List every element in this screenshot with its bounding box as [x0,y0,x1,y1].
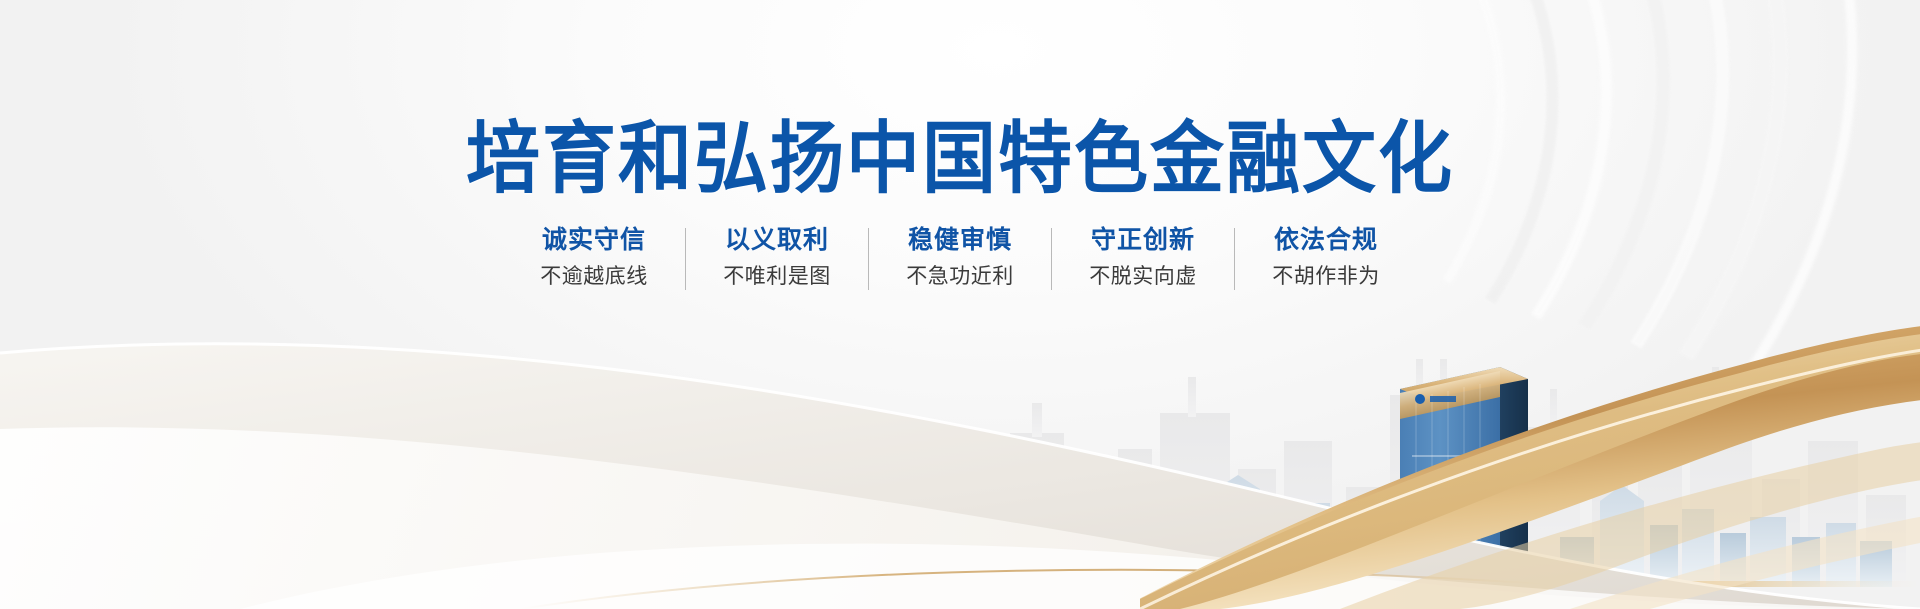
slogan-sub-1: 不逾越底线 [525,263,663,290]
slogan-main-5: 依法合规 [1257,224,1395,255]
slogan-main-4: 守正创新 [1074,224,1212,255]
finance-culture-banner: 培育和弘扬中国特色金融文化 诚实守信 不逾越底线 以义取利 不唯利是图 稳健审慎… [0,0,1920,609]
slogan-main-3: 稳健审慎 [891,224,1029,255]
slogan-sub-5: 不胡作非为 [1257,263,1395,290]
slogan-main-2: 以义取利 [708,224,846,255]
slogan-item-3: 稳健审慎 不急功近利 [885,224,1035,291]
slogan-sub-4: 不脱实向虚 [1074,263,1212,290]
page-title: 培育和弘扬中国特色金融文化 [0,120,1920,198]
slogan-item-1: 诚实守信 不逾越底线 [519,224,669,291]
gold-ribbon-swoosh [1140,279,1920,609]
headline-block: 培育和弘扬中国特色金融文化 [0,120,1920,194]
slogan-main-1: 诚实守信 [525,224,663,255]
slogan-divider-1 [685,228,686,290]
slogan-item-2: 以义取利 不唯利是图 [702,224,852,291]
slogan-sub-2: 不唯利是图 [708,263,846,290]
slogan-item-5: 依法合规 不胡作非为 [1251,224,1401,291]
slogan-row: 诚实守信 不逾越底线 以义取利 不唯利是图 稳健审慎 不急功近利 守正创新 不脱… [0,224,1920,291]
slogan-item-4: 守正创新 不脱实向虚 [1068,224,1218,291]
slogan-divider-2 [868,228,869,290]
slogan-sub-3: 不急功近利 [891,263,1029,290]
slogan-divider-4 [1234,228,1235,290]
slogan-divider-3 [1051,228,1052,290]
